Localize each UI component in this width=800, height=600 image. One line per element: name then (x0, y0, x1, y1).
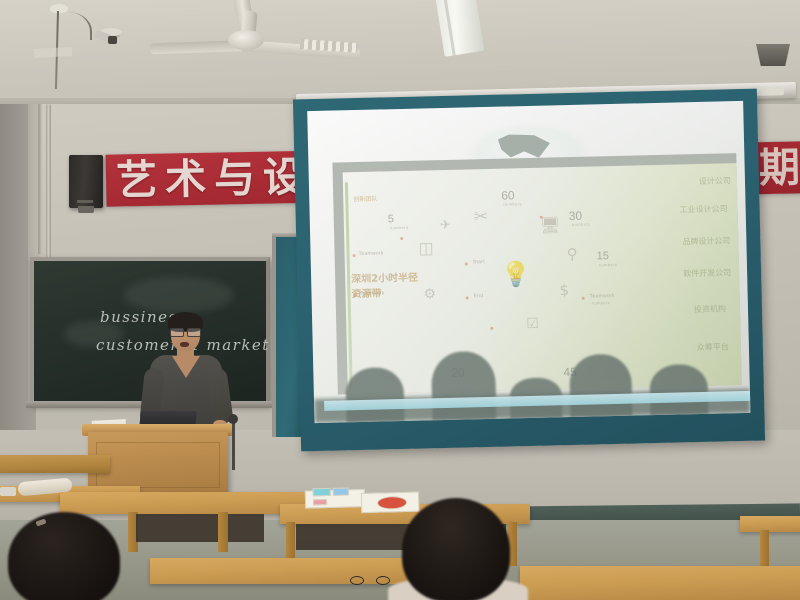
slide-heading-1: 深圳2小时半径 (351, 269, 418, 286)
speaker-bracket (78, 206, 94, 213)
slide-tag-start: Start (473, 259, 485, 265)
lightbulb-icon: 💡 (501, 260, 532, 289)
document-icon: ◫ (418, 238, 434, 257)
foreground-student-right (402, 498, 510, 600)
paper-swatch (313, 499, 327, 505)
ceiling-speaker-icon (756, 44, 790, 66)
slide-bullet-dot (354, 294, 357, 297)
slide-number-caption: numbers (572, 222, 590, 227)
slide-number: 5 (388, 213, 394, 225)
lamp-head-icon (108, 36, 117, 44)
plane-icon: ✈ (440, 218, 451, 233)
podium-front-panel (96, 442, 220, 488)
microphone-icon (228, 414, 238, 424)
slide-right-item: 设计公司 (699, 175, 731, 187)
desk-leg (286, 522, 295, 558)
checklist-icon: ☑ (526, 316, 539, 332)
desk-leg (218, 512, 228, 552)
slide-bullet-dot (400, 237, 403, 240)
desk-shelf (136, 514, 218, 542)
slide-bullet-dot (490, 327, 493, 330)
slide-right-item: 众筹平台 (697, 341, 729, 353)
paper-swatch (313, 488, 331, 496)
slide-right-item: 品牌设计公司 (682, 235, 730, 247)
slide-label-innovation: 创新团队 (353, 194, 377, 204)
slide-number-caption: numbers (503, 201, 521, 206)
paper-swatch (333, 487, 349, 495)
microphone-stand (232, 420, 235, 470)
wall-speaker-icon (69, 155, 103, 208)
projection-screen-frame: 创新团队 深圳2小时半径 资源带 60 numbers 5 numbers 30… (293, 89, 765, 452)
foreground-student-left (8, 512, 120, 600)
slide-bullet-dot (353, 254, 356, 257)
slide-right-item: 投资机构 (694, 303, 726, 315)
slide-tag-teamwork: Teamwork (359, 250, 384, 257)
slide-right-item: 工业设计公司 (679, 203, 727, 215)
rail-end-cap (756, 86, 784, 96)
slide-content: 创新团队 深圳2小时半径 资源带 60 numbers 5 numbers 30… (343, 163, 742, 394)
classroom-scene: 艺术与设计 期 bussiness customer & market 创新团队 (0, 0, 800, 600)
slide-tag-teamwork: Teamwork (590, 293, 615, 300)
slide-bullet-dot (466, 296, 469, 299)
slide-tag-caption: numbers (592, 300, 610, 305)
slide-tag-end: End (474, 293, 484, 299)
tube-light-icon (436, 0, 485, 57)
desk (0, 455, 110, 473)
desk (520, 566, 800, 600)
eyeglasses-lens (350, 576, 364, 585)
presenter-mouth (180, 342, 189, 347)
slide-tag-teamwork: Teamwork (359, 290, 384, 297)
desk-shelf (228, 514, 264, 542)
banner-text-right: 期 (758, 142, 800, 193)
eyeglasses-icon (170, 328, 201, 335)
eyeglasses-bridge (182, 331, 189, 332)
scissors-icon: ✂ (474, 207, 489, 227)
booklets-on-desk[interactable] (305, 483, 426, 514)
slide-backdrop: 创新团队 深圳2小时半径 资源带 60 numbers 5 numbers 30… (332, 153, 741, 394)
money-icon: $ (559, 281, 569, 299)
desk (740, 516, 800, 532)
phone-on-desk[interactable] (0, 487, 16, 496)
speaker-brand-label (77, 200, 93, 203)
gear-icon: ⚙ (423, 286, 436, 302)
slide-number-caption: numbers (390, 225, 408, 230)
projection-screen[interactable]: 创新团队 深圳2小时半径 资源带 60 numbers 5 numbers 30… (307, 101, 750, 423)
slide-bullet-dot (465, 262, 468, 265)
slide-number-caption: numbers (599, 262, 617, 267)
slide-bullet-dot (582, 297, 585, 300)
eyeglasses-lens (376, 576, 390, 585)
search-icon: ⚲ (566, 245, 577, 263)
monitor-icon: 🖥 (540, 215, 561, 234)
eyeglasses-on-desk-icon[interactable] (350, 576, 390, 586)
ceiling-fan-icon (228, 30, 264, 50)
wall-pipe-secondary (38, 104, 42, 254)
slide-right-item: 软件开发公司 (683, 267, 731, 279)
slide-number: 15 (597, 250, 610, 262)
